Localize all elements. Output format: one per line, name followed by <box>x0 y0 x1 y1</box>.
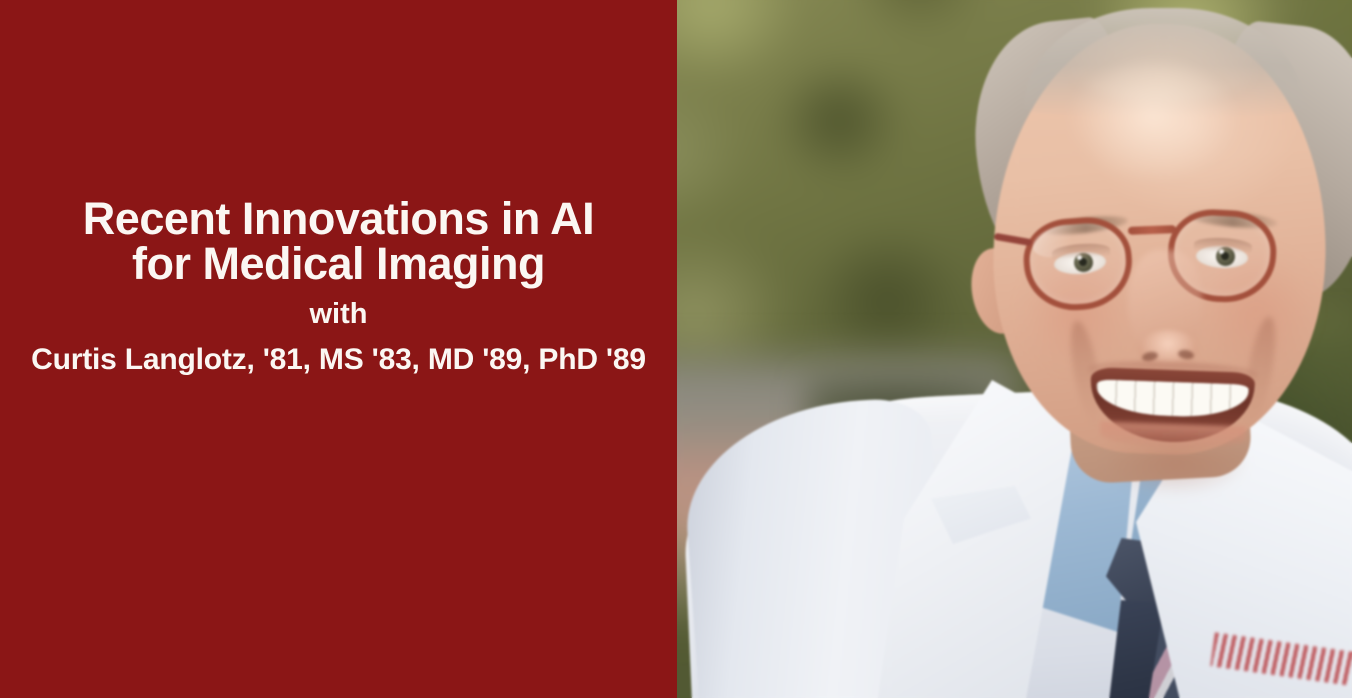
speaker-photo <box>676 0 1352 698</box>
event-promo-banner: Recent Innovations in AI for Medical Ima… <box>0 0 1352 698</box>
event-title: Recent Innovations in AI for Medical Ima… <box>0 196 677 286</box>
eyeglasses-bridge <box>1128 225 1176 235</box>
with-connector-label: with <box>0 292 677 336</box>
chin-shadow <box>1106 448 1246 494</box>
title-panel: Recent Innovations in AI for Medical Ima… <box>0 0 677 698</box>
speaker-name: Curtis Langlotz, '81, MS '83, MD '89, Ph… <box>0 336 677 384</box>
title-text-stack: Recent Innovations in AI for Medical Ima… <box>0 196 677 384</box>
speaker-portrait-figure <box>676 0 1352 698</box>
teeth <box>1096 379 1249 418</box>
forehead-highlight <box>1068 62 1238 182</box>
